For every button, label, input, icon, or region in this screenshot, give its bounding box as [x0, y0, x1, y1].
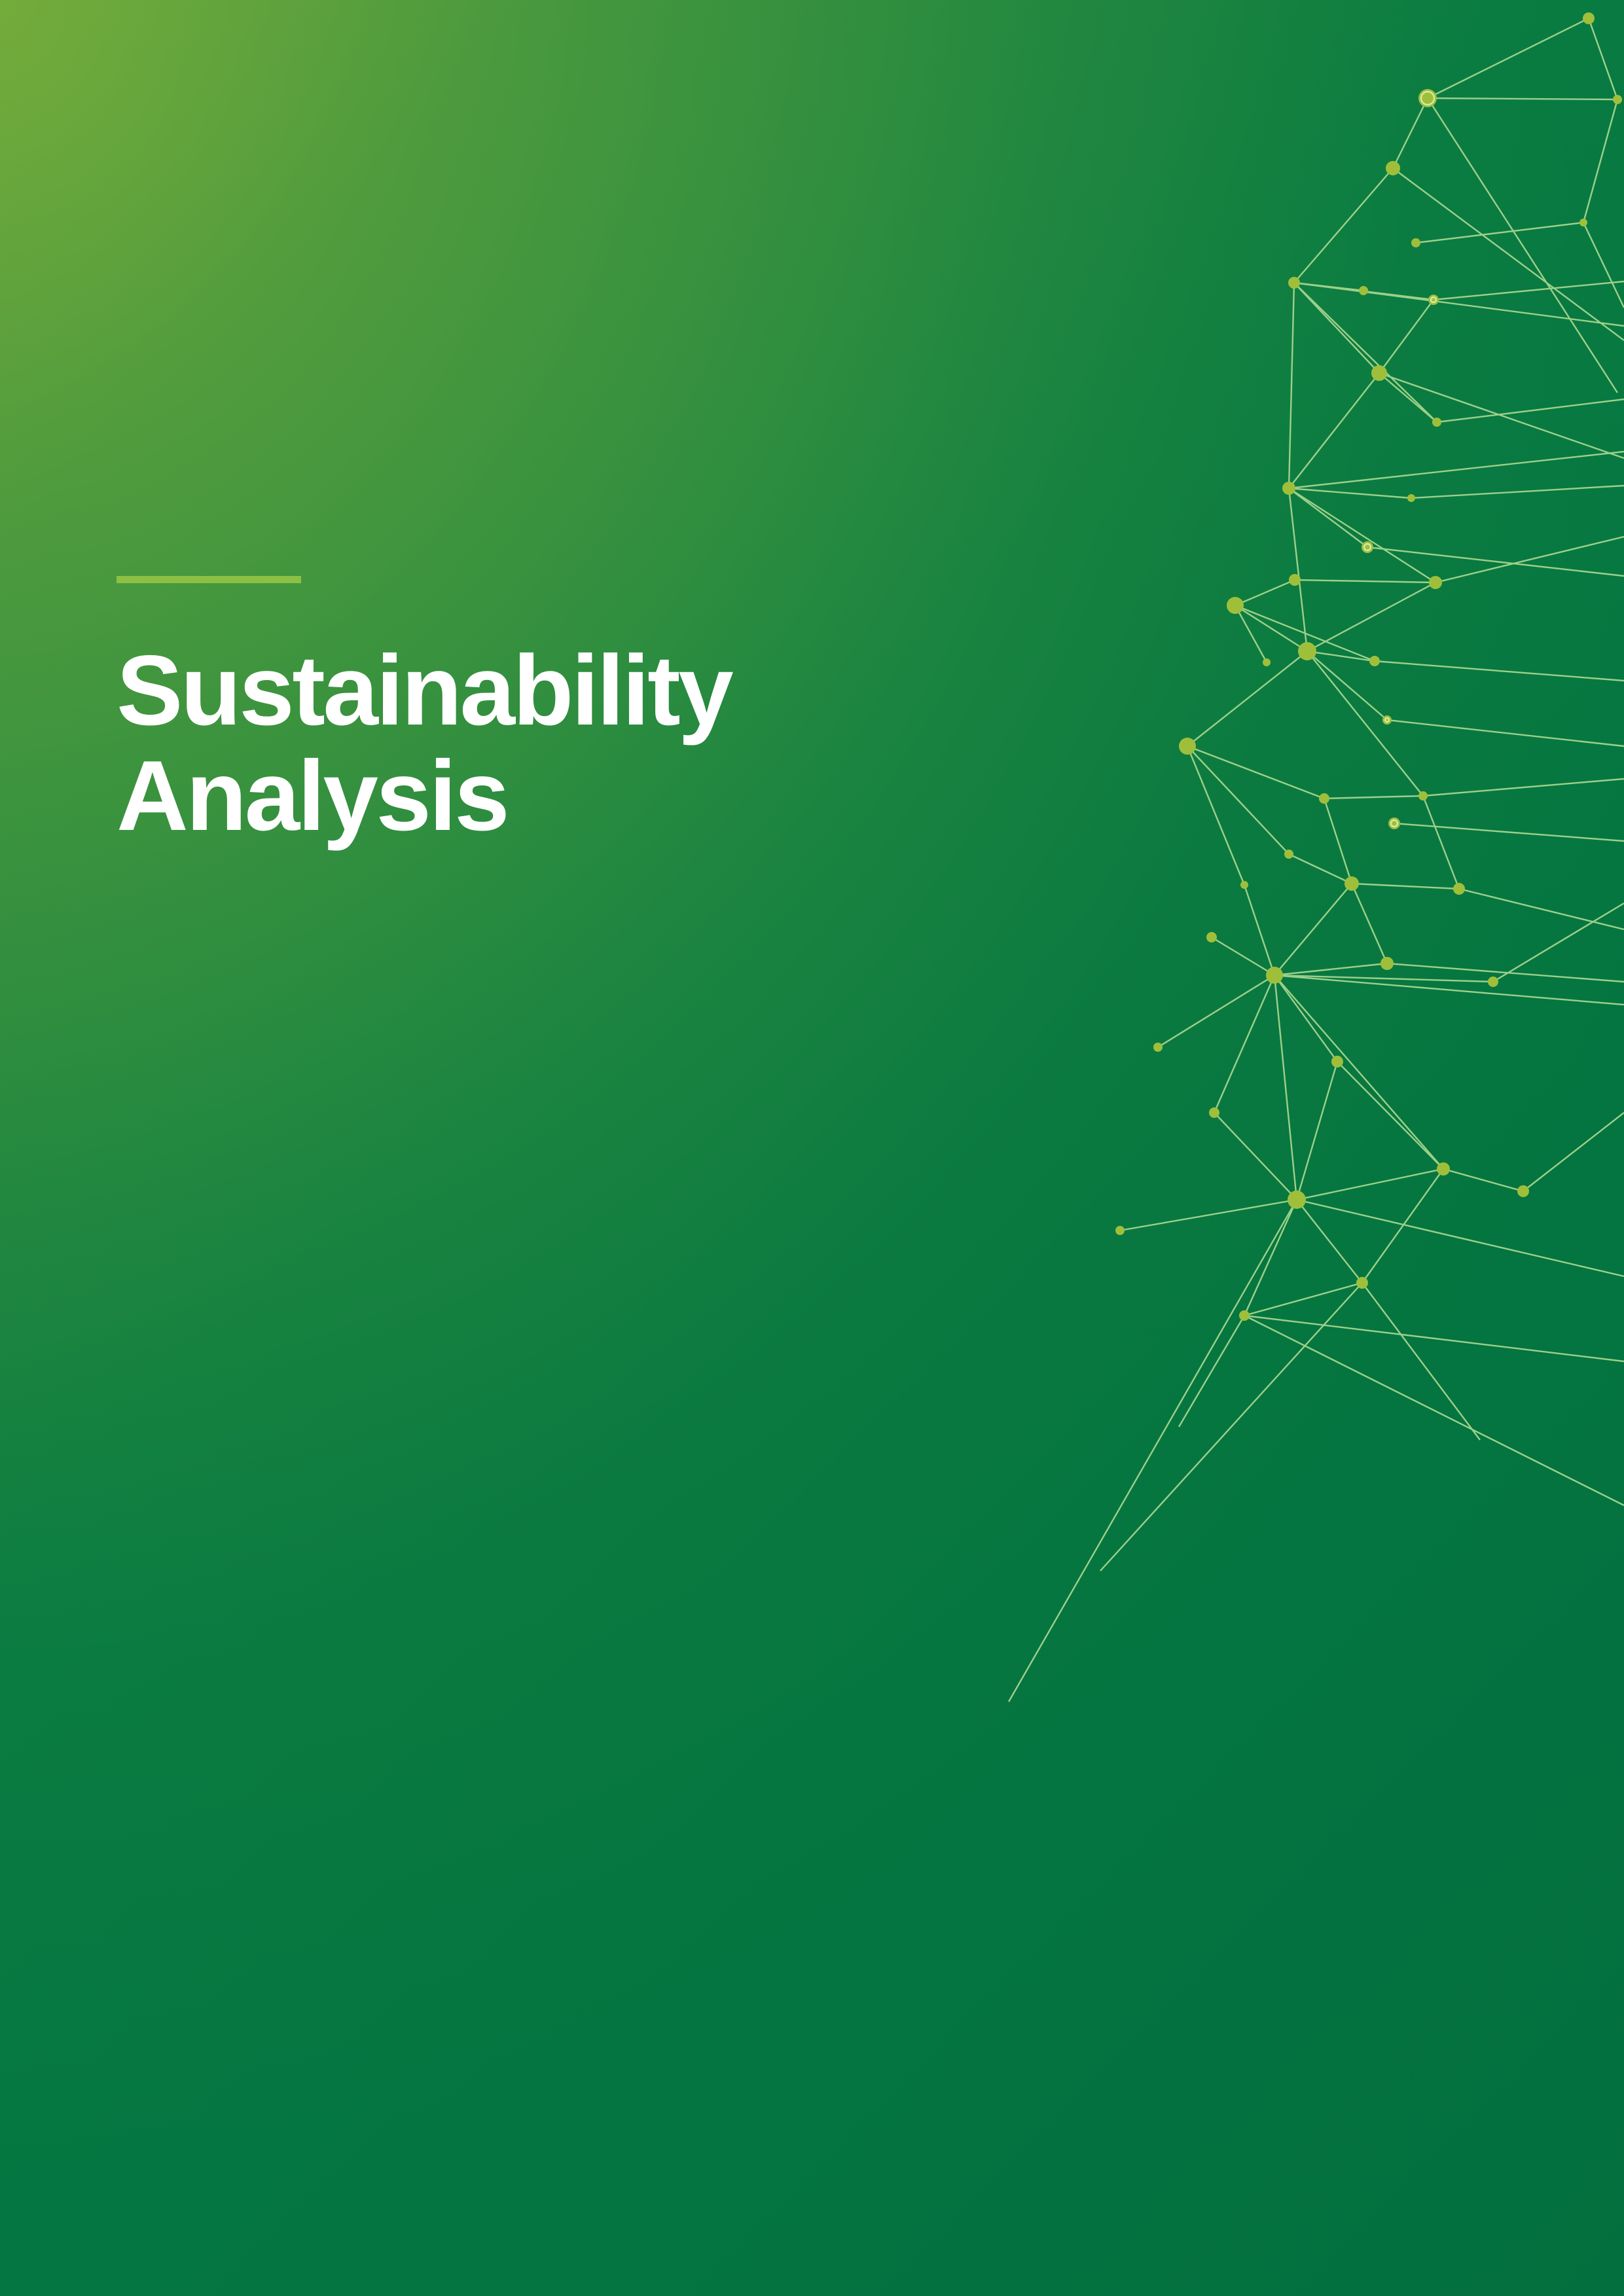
network-node — [1380, 957, 1394, 970]
network-node — [1517, 1185, 1529, 1197]
network-node — [1240, 881, 1248, 889]
network-node-ring — [1391, 820, 1398, 827]
network-node — [1488, 977, 1498, 987]
network-node — [1179, 738, 1196, 755]
network-node — [1428, 295, 1439, 305]
network-node — [1437, 1162, 1450, 1175]
network-node — [1411, 238, 1420, 247]
network-node — [1263, 658, 1271, 666]
network-node — [1583, 12, 1595, 24]
network-node — [1386, 161, 1400, 175]
network-node — [1388, 817, 1400, 829]
page-title: Sustainability Analysis — [117, 638, 1033, 849]
network-node-ring — [1385, 718, 1389, 722]
accent-rule — [117, 576, 301, 583]
network-node — [1209, 1107, 1219, 1118]
network-node — [1298, 642, 1316, 660]
network-node — [1382, 715, 1392, 725]
network-node — [1579, 219, 1587, 226]
network-decoration — [904, 0, 1624, 2296]
network-node — [1206, 932, 1217, 942]
network-nodes — [1115, 12, 1622, 1321]
network-edges — [1009, 18, 1624, 1702]
network-node — [1288, 277, 1300, 289]
network-node-ring — [1364, 544, 1371, 550]
network-node — [1359, 286, 1368, 295]
network-node — [1331, 1056, 1343, 1067]
network-node — [1418, 89, 1437, 107]
network-node — [1429, 576, 1442, 589]
network-graphic — [904, 0, 1624, 2296]
network-node — [1153, 1043, 1163, 1052]
network-node — [1282, 482, 1295, 495]
network-node-ring — [1431, 297, 1436, 302]
network-node — [1288, 1191, 1306, 1209]
network-node — [1362, 541, 1373, 553]
network-node — [1344, 876, 1359, 891]
network-node — [1369, 656, 1380, 666]
network-node — [1227, 597, 1244, 614]
network-node — [1115, 1226, 1125, 1235]
network-node — [1371, 365, 1387, 381]
network-node — [1239, 1310, 1250, 1321]
network-node — [1284, 850, 1293, 859]
network-node — [1356, 1277, 1368, 1289]
network-node — [1453, 883, 1465, 895]
network-node — [1289, 574, 1301, 586]
network-node-ring — [1421, 92, 1434, 105]
cover-content: Sustainability Analysis — [117, 576, 1033, 849]
network-node — [1613, 95, 1622, 104]
network-node — [1266, 967, 1283, 984]
network-node — [1407, 494, 1415, 502]
network-node — [1418, 791, 1428, 800]
network-node — [1432, 418, 1441, 427]
cover-page: Sustainability Analysis — [0, 0, 1624, 2296]
network-node — [1319, 793, 1329, 804]
